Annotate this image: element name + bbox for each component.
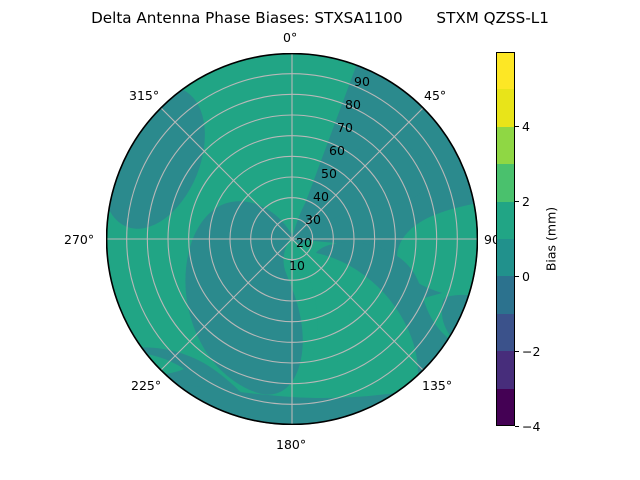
colorbar-band-1 [496, 351, 515, 388]
angle-tick-180: 180° [276, 437, 306, 452]
colorbar-band-3 [496, 276, 515, 313]
colorbar[interactable] [496, 52, 515, 426]
cbar-tick-0-label: 0 [522, 269, 530, 284]
cbar-tick-4-label: 4 [522, 119, 530, 134]
colorbar-band-8 [496, 89, 515, 126]
colorbar-band-2 [496, 314, 515, 351]
contour-region-east-small-teal [442, 295, 478, 353]
cbar-tick-4-mark [515, 126, 519, 127]
page-title: Delta Antenna Phase Biases: STXSA1100 ST… [0, 9, 640, 27]
angle-tick-45: 45° [424, 88, 446, 103]
cbar-tick-2-mark [515, 201, 519, 202]
polar-contour-svg [106, 53, 478, 425]
colorbar-band-6 [496, 164, 515, 201]
angle-tick-135: 135° [422, 378, 452, 393]
colorbar-band-7 [496, 127, 515, 164]
colorbar-band-9 [496, 52, 515, 89]
radial-tick-40: 40 [313, 189, 329, 204]
radial-tick-80: 80 [345, 97, 361, 112]
cbar-tick-neg4-label: −4 [522, 419, 540, 434]
radial-tick-50: 50 [321, 166, 337, 181]
colorbar-axis-label: Bias (mm) [544, 207, 559, 271]
angle-tick-0: 0° [283, 30, 297, 45]
colorbar-band-5 [496, 202, 515, 239]
cbar-tick-0-mark [515, 276, 519, 277]
colorbar-band-0 [496, 389, 515, 426]
polar-plot-axes[interactable]: 10 20 30 40 50 60 70 80 90 [106, 53, 478, 425]
radial-tick-90: 90 [354, 74, 370, 89]
radial-tick-70: 70 [337, 120, 353, 135]
polar-grid [106, 53, 478, 425]
radial-tick-10: 10 [289, 258, 305, 273]
angle-tick-270: 270° [64, 232, 94, 247]
angle-tick-225: 225° [131, 378, 161, 393]
figure-canvas: Delta Antenna Phase Biases: STXSA1100 ST… [0, 0, 640, 480]
cbar-tick-neg4-mark [515, 426, 519, 427]
radial-tick-30: 30 [305, 212, 321, 227]
angle-tick-315: 315° [129, 88, 159, 103]
cbar-tick-neg2-label: −2 [522, 344, 540, 359]
cbar-tick-2-label: 2 [522, 194, 530, 209]
colorbar-band-4 [496, 239, 515, 276]
radial-tick-20: 20 [296, 235, 312, 250]
radial-tick-60: 60 [329, 143, 345, 158]
cbar-tick-neg2-mark [515, 351, 519, 352]
